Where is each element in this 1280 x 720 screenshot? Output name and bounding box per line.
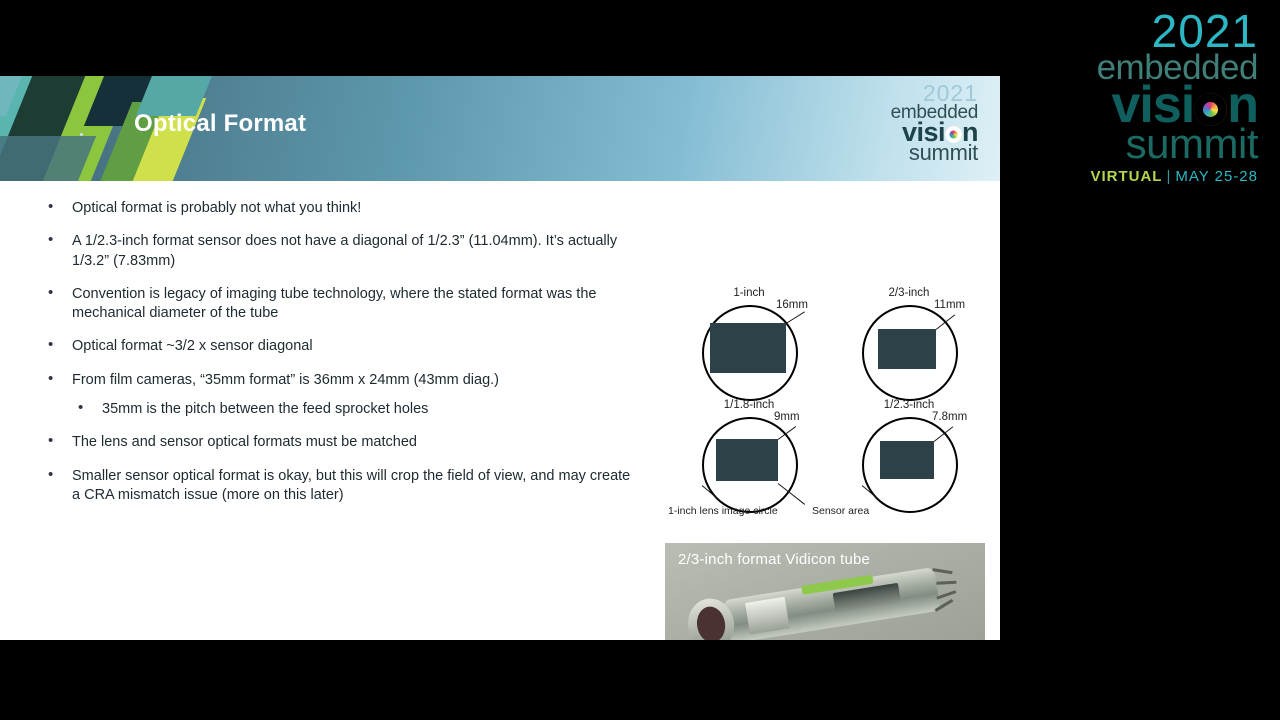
photo-caption: 2/3-inch format Vidicon tube xyxy=(678,551,870,568)
slide-logo-vision-pre: visi xyxy=(902,117,945,147)
list-item: Optical format ~3/2 x sensor diagonal xyxy=(40,337,640,356)
list-item: Convention is legacy of imaging tube tec… xyxy=(40,285,640,324)
list-item: The lens and sensor optical formats must… xyxy=(40,433,640,452)
slide-logo-vision-post: n xyxy=(962,117,978,147)
sensor-width-label: 11mm xyxy=(934,299,965,311)
sensor-format-label: 1/2.3-inch xyxy=(834,399,984,411)
sensor-cell-118inch: 1/1.8-inch 9mm xyxy=(674,399,824,519)
video-player-frame: Optical Format 2021 embedded visin summi… xyxy=(0,0,1280,720)
sensor-width-label: 16mm xyxy=(776,299,808,311)
list-item-sub: 35mm is the pitch between the feed sproc… xyxy=(40,400,640,419)
vidicon-tube-graphic xyxy=(684,560,959,640)
list-item: From film cameras, “35mm format” is 36mm… xyxy=(40,371,640,390)
slide-body: Optical format is probably not what you … xyxy=(0,181,1000,640)
sensor-format-label: 1/1.8-inch xyxy=(674,399,824,411)
list-item: Smaller sensor optical format is okay, b… xyxy=(40,467,640,506)
presentation-slide: Optical Format 2021 embedded visin summi… xyxy=(0,76,1000,640)
sensor-format-label: 2/3-inch xyxy=(834,287,984,299)
sensor-format-diagram: 1-inch 16mm 2/3-inch 11mm 1/1.8-inch xyxy=(660,287,990,537)
sensor-width-label: 9mm xyxy=(774,411,800,423)
sensor-cell-123inch: 1/2.3-inch 7.8mm xyxy=(834,399,984,519)
right-side-panel: 2021 embedded visin summit VIRTUAL|MAY 2… xyxy=(1000,0,1280,720)
slide-evs-logo: 2021 embedded visin summit xyxy=(858,82,978,164)
vidicon-tube-photo: 2/3-inch format Vidicon tube xyxy=(665,543,985,640)
slide-logo-vision: visin xyxy=(858,119,978,146)
annotation-image-circle: 1-inch lens image circle xyxy=(668,505,778,517)
sensor-format-label: 1-inch xyxy=(674,287,824,299)
slide-header: Optical Format 2021 embedded visin summi… xyxy=(0,76,1000,181)
rainbow-ring-icon xyxy=(945,126,962,143)
list-item: A 1/2.3-inch format sensor does not have… xyxy=(40,232,640,271)
bullet-list: Optical format is probably not what you … xyxy=(40,199,640,519)
sensor-cell-1inch: 1-inch 16mm xyxy=(674,287,824,407)
logo-summit: summit xyxy=(1000,123,1258,165)
sensor-width-label: 7.8mm xyxy=(932,411,967,423)
logo-separator: | xyxy=(1166,168,1171,185)
annotation-sensor-area: Sensor area xyxy=(812,505,869,517)
sensor-cell-23inch: 2/3-inch 11mm xyxy=(834,287,984,407)
event-logo: 2021 embedded visin summit VIRTUAL|MAY 2… xyxy=(1000,8,1280,193)
slide-title: Optical Format xyxy=(134,110,306,138)
logo-subtitle: VIRTUAL|MAY 25-28 xyxy=(1000,169,1258,184)
logo-virtual: VIRTUAL xyxy=(1090,168,1162,185)
logo-dates: MAY 25-28 xyxy=(1175,168,1258,185)
list-item: Optical format is probably not what you … xyxy=(40,199,640,218)
